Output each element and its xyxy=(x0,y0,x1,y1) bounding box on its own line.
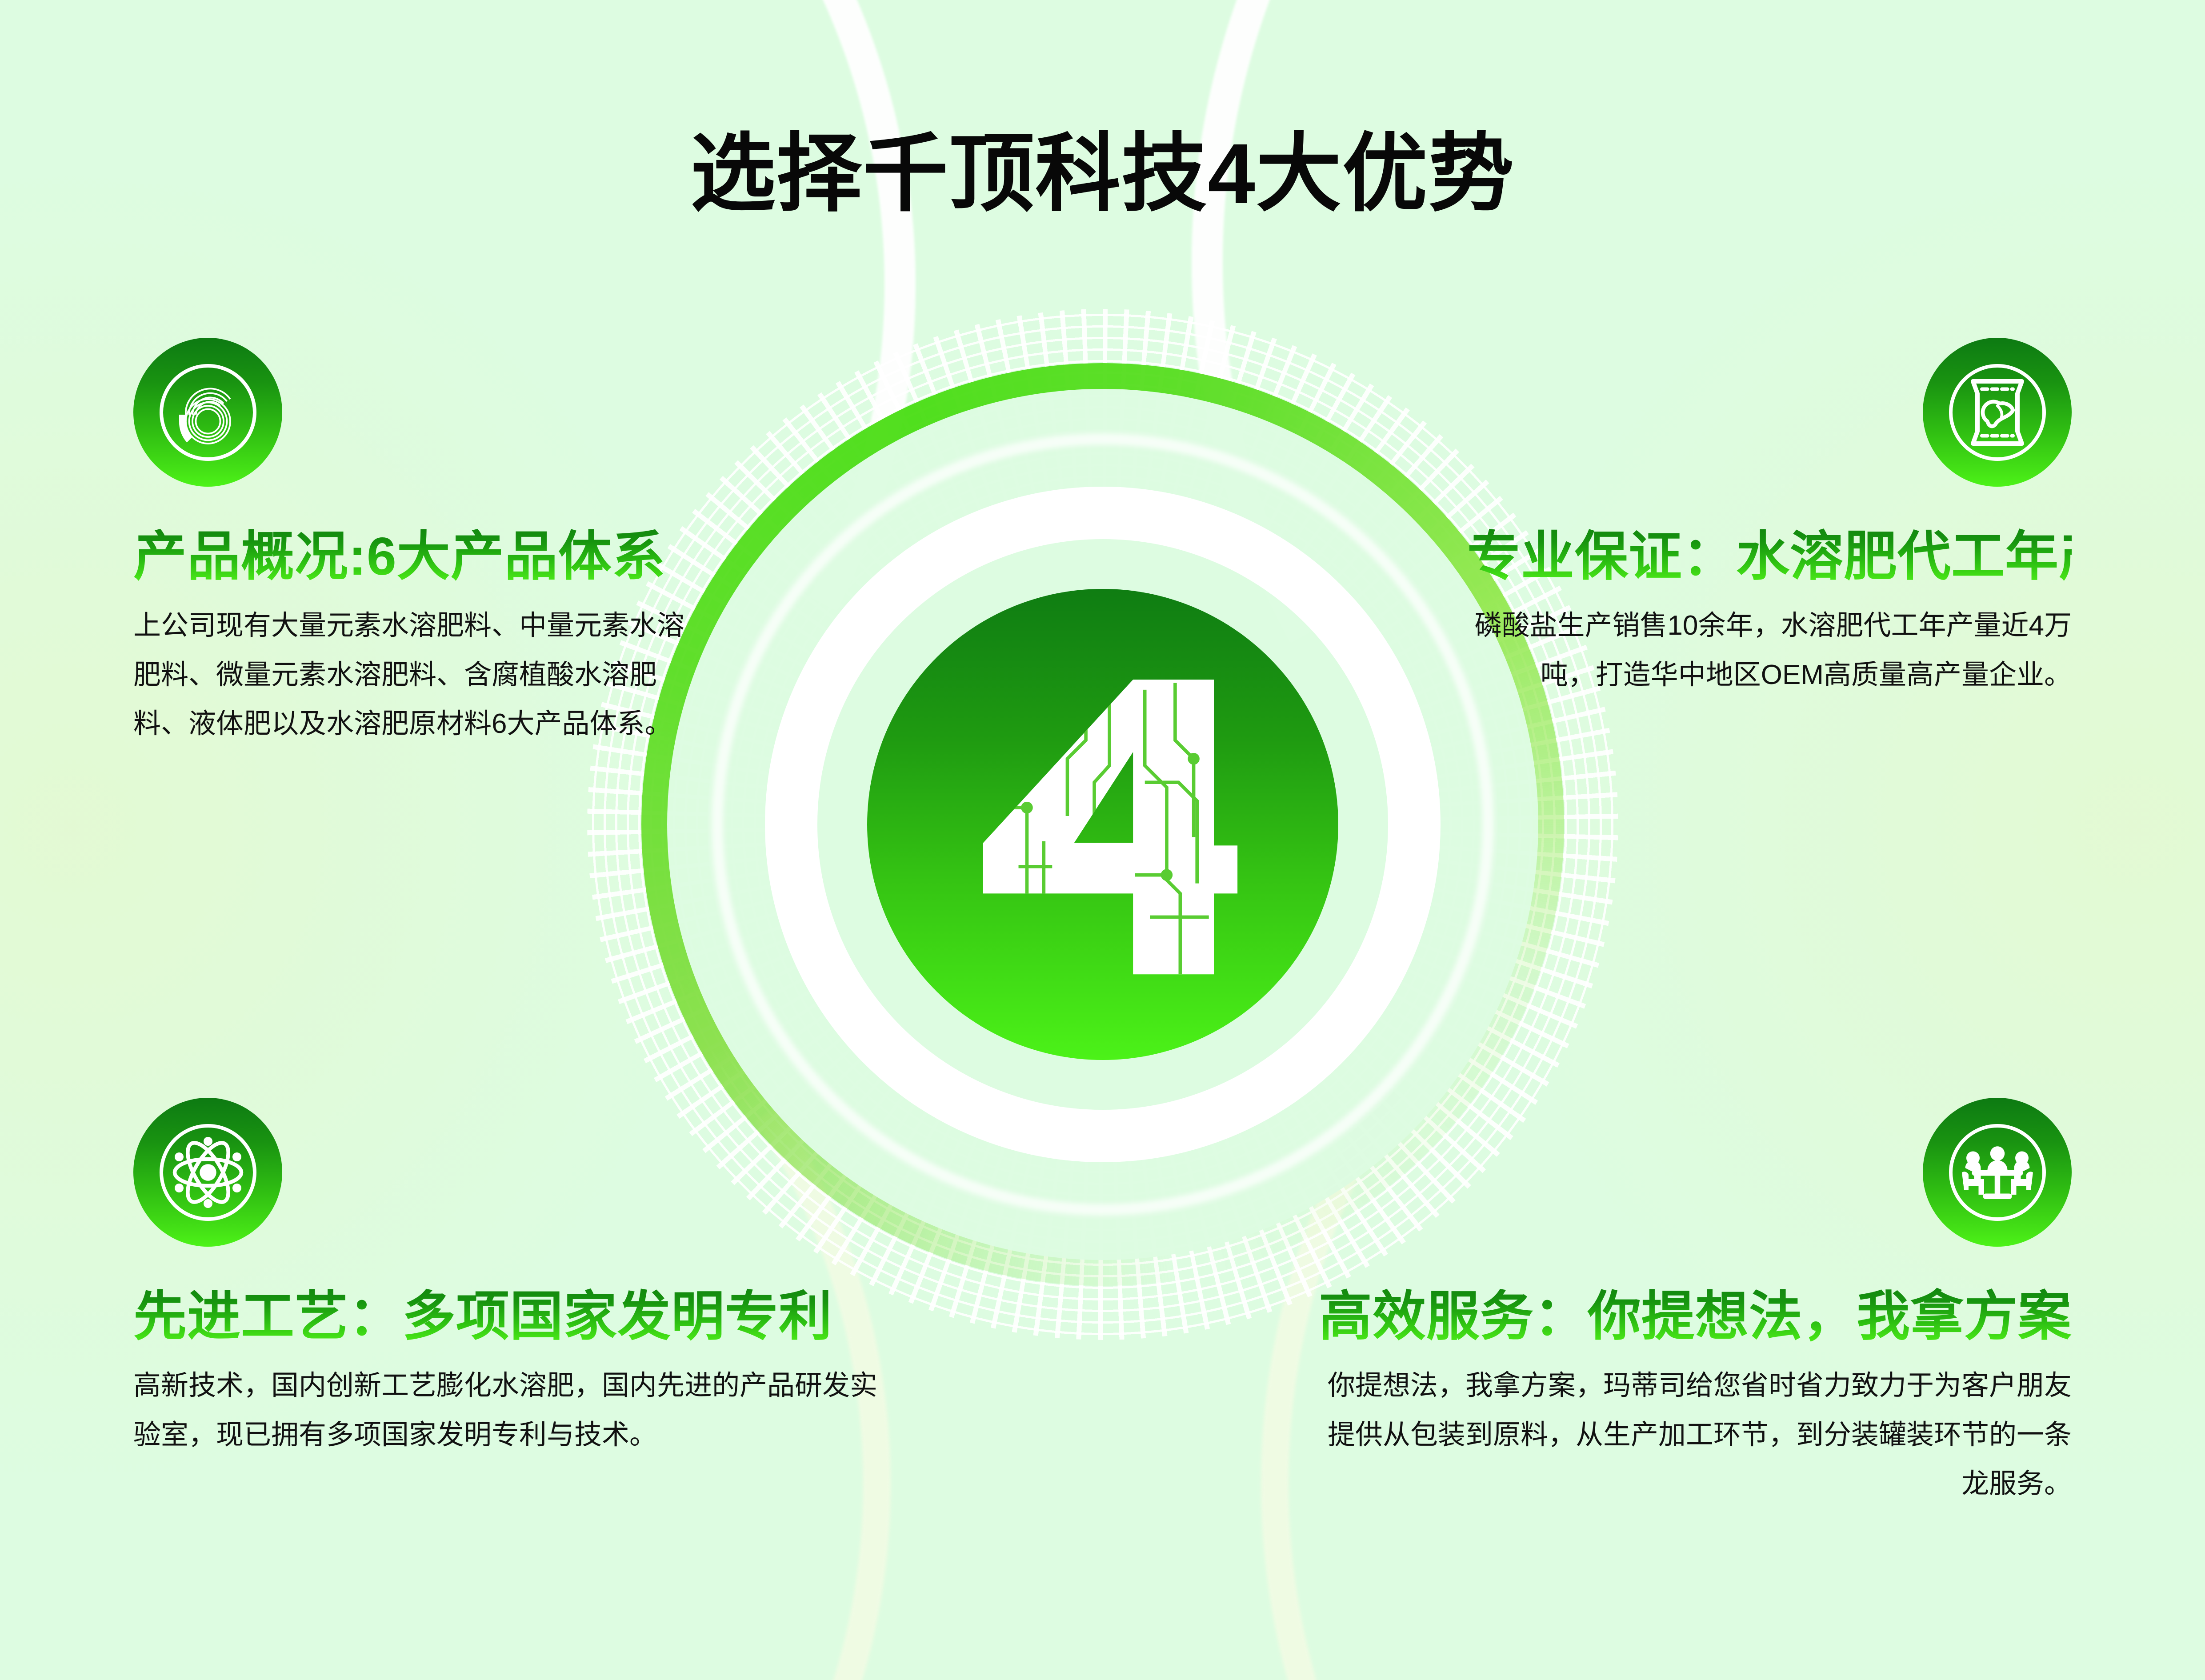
advantage-heading: 专业保证：水溶肥代工年产量近4万吨 xyxy=(1467,527,2072,586)
advantage-body: 磷酸盐生产销售10余年，水溶肥代工年产量近4万吨，打造华中地区OEM高质量高产量… xyxy=(1467,601,2072,700)
advantage-heading: 产品概况:6大产品体系 xyxy=(133,527,711,586)
number-six-rings-glyph xyxy=(152,357,264,468)
fertilizer-bag-icon xyxy=(1923,338,2072,487)
advantage-card-product-overview: 产品概况:6大产品体系 上公司现有大量元素水溶肥料、中量元素水溶肥料、微量元素水… xyxy=(133,338,711,748)
number-six-rings-icon xyxy=(133,338,282,487)
atom-icon xyxy=(133,1098,282,1247)
meeting-people-glyph xyxy=(1942,1117,2053,1228)
advantage-body: 你提想法，我拿方案，玛蒂司给您省时省力致力于为客户朋友提供从包装到原料，从生产加… xyxy=(1307,1361,2072,1508)
advantage-heading: 高效服务：你提想法，我拿方案 xyxy=(1307,1287,2072,1346)
page-title: 选择千顶科技4大优势 xyxy=(0,104,2205,228)
fertilizer-bag-glyph xyxy=(1942,357,2053,468)
advantage-card-professional-guarantee: 专业保证：水溶肥代工年产量近4万吨 磷酸盐生产销售10余年，水溶肥代工年产量近4… xyxy=(1467,338,2072,700)
advantage-card-advanced-process: 先进工艺：多项国家发明专利 高新技术，国内创新工艺膨化水溶肥，国内先进的产品研发… xyxy=(133,1098,898,1460)
advantage-card-efficient-service: 高效服务：你提想法，我拿方案 你提想法，我拿方案，玛蒂司给您省时省力致力于为客户… xyxy=(1307,1098,2072,1508)
center-number-disc xyxy=(867,589,1338,1060)
meeting-people-icon xyxy=(1923,1098,2072,1247)
advantage-heading: 先进工艺：多项国家发明专利 xyxy=(133,1287,898,1346)
number-four-tech-glyph xyxy=(965,664,1241,984)
atom-glyph xyxy=(152,1117,264,1228)
advantage-body: 上公司现有大量元素水溶肥料、中量元素水溶肥料、微量元素水溶肥料、含腐植酸水溶肥料… xyxy=(133,601,711,748)
advantage-body: 高新技术，国内创新工艺膨化水溶肥，国内先进的产品研发实验室，现已拥有多项国家发明… xyxy=(133,1361,898,1460)
